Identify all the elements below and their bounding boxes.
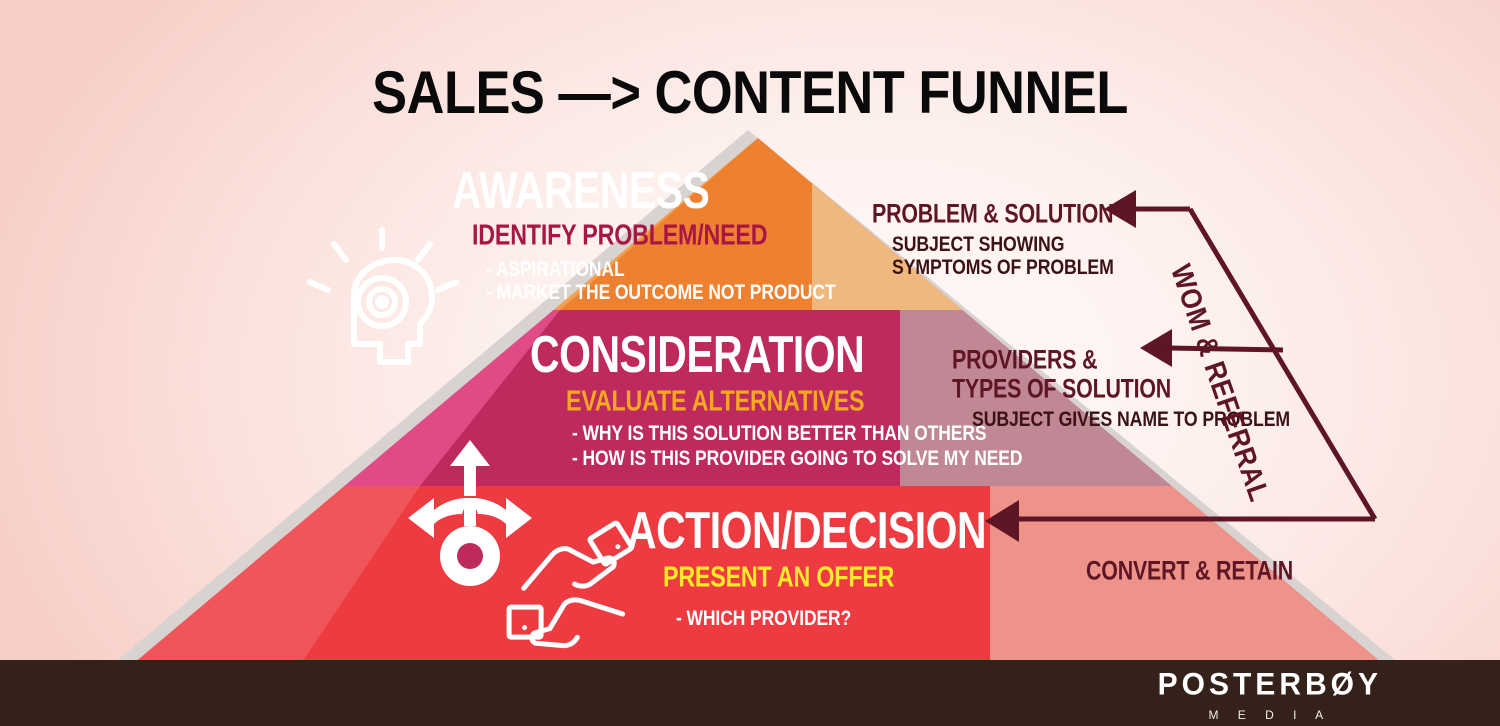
brand-name: POSTERBØY	[1158, 669, 1382, 701]
panel-title-providers-line1: PROVIDERS &	[952, 344, 1097, 375]
tier-bullet-awareness-1: - ASPIRATIONAL	[486, 258, 625, 283]
funnel-diagram: AWARENESS IDENTIFY PROBLEM/NEED - ASPIRA…	[0, 0, 1500, 726]
tier-bullet-consideration-2: - HOW IS THIS PROVIDER GOING TO SOLVE MY…	[572, 447, 1022, 472]
panel-line-problem-solution-2: SYMPTOMS OF PROBLEM	[892, 256, 1114, 281]
tier-title-consideration: CONSIDERATION	[530, 326, 864, 385]
tier-subtitle-consideration: EVALUATE ALTERNATIVES	[566, 385, 864, 418]
panel-title-providers-line2: TYPES OF SOLUTION	[952, 373, 1171, 404]
tier-bullet-consideration-1: - WHY IS THIS SOLUTION BETTER THAN OTHER…	[572, 422, 986, 447]
panel-title-convert-retain: CONVERT & RETAIN	[1086, 555, 1293, 586]
lightbulb-head-icon	[310, 230, 456, 362]
tier-title-action: ACTION/DECISION	[627, 502, 986, 561]
panel-line-problem-solution-1: SUBJECT SHOWING	[892, 233, 1064, 258]
tier-title-awareness: AWARENESS	[452, 162, 709, 221]
tier-bullet-awareness-2: - MARKET THE OUTCOME NOT PRODUCT	[486, 281, 836, 306]
footer-bar: POSTERBØY M E D I A	[0, 660, 1500, 726]
tier-subtitle-action: PRESENT AN OFFER	[663, 561, 894, 594]
tier-bullet-action-1: - WHICH PROVIDER?	[676, 607, 851, 632]
panel-title-problem-solution: PROBLEM & SOLUTION	[872, 198, 1113, 229]
brand-tagline: M E D I A	[1158, 708, 1382, 722]
brand-logo: POSTERBØY M E D I A	[1158, 670, 1382, 722]
tier-subtitle-awareness: IDENTIFY PROBLEM/NEED	[472, 219, 767, 252]
